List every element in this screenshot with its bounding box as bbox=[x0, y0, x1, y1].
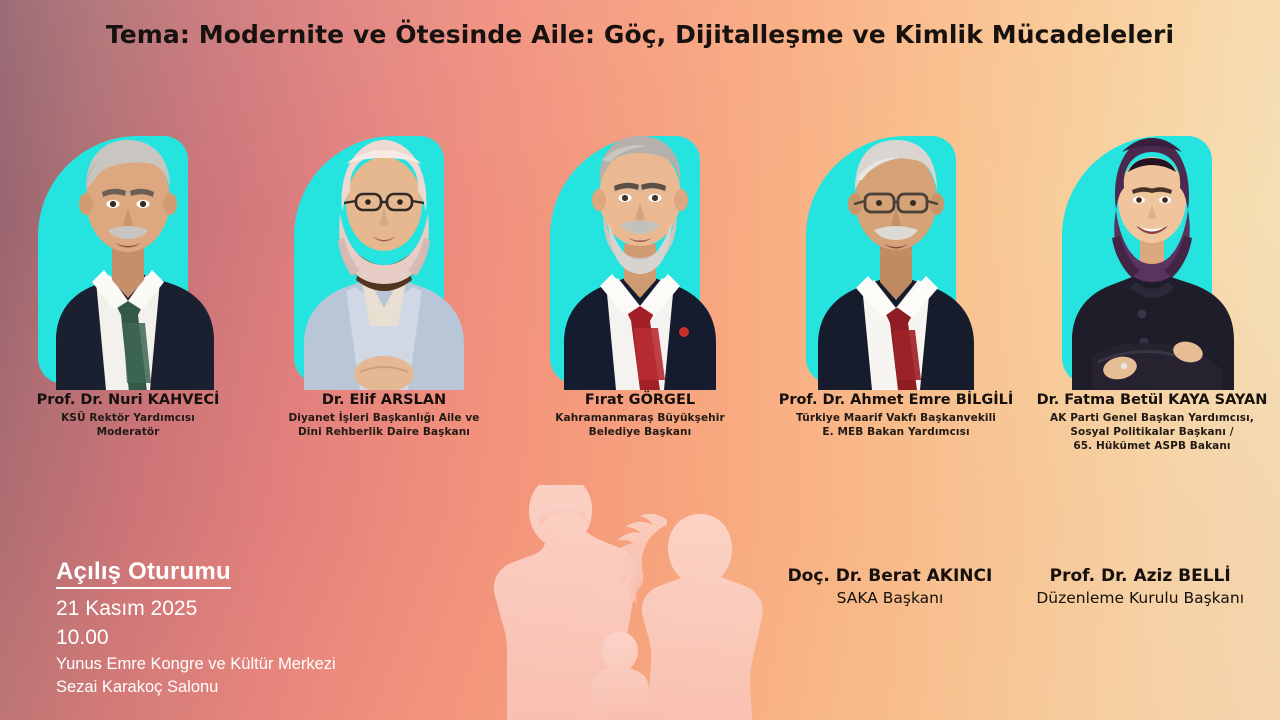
portrait-elif-arslan bbox=[256, 118, 512, 390]
photo-wrap bbox=[512, 118, 768, 390]
organizer-item: Doç. Dr. Berat AKINCI SAKA Başkanı bbox=[788, 566, 993, 608]
family-silhouette-icon bbox=[395, 485, 825, 720]
speaker-card: Dr. Fatma Betül KAYA SAYAN AK Parti Gene… bbox=[1024, 118, 1280, 478]
speaker-name: Dr. Fatma Betül KAYA SAYAN bbox=[1037, 392, 1268, 408]
speaker-name: Dr. Elif ARSLAN bbox=[322, 392, 446, 408]
poster-canvas: Tema: Modernite ve Ötesinde Aile: Göç, D… bbox=[0, 0, 1280, 720]
organizer-role: SAKA Başkanı bbox=[788, 589, 993, 608]
speaker-role: KSÜ Rektör Yardımcısı Moderatör bbox=[61, 412, 195, 440]
page-title: Tema: Modernite ve Ötesinde Aile: Göç, D… bbox=[0, 20, 1280, 49]
organizer-name: Doç. Dr. Berat AKINCI bbox=[788, 566, 993, 586]
portrait-fatma-betul-kaya-sayan bbox=[1024, 118, 1280, 390]
organizers-block: Doç. Dr. Berat AKINCI SAKA Başkanı Prof.… bbox=[788, 566, 1244, 608]
speaker-card: Prof. Dr. Nuri KAHVECİ KSÜ Rektör Yardım… bbox=[0, 118, 256, 478]
photo-wrap bbox=[1024, 118, 1280, 390]
session-time: 10.00 bbox=[56, 625, 336, 650]
speaker-card: Prof. Dr. Ahmet Emre BİLGİLİ Türkiye Maa… bbox=[768, 118, 1024, 478]
speaker-name: Prof. Dr. Nuri KAHVECİ bbox=[37, 392, 220, 408]
photo-wrap bbox=[0, 118, 256, 390]
speaker-card: Dr. Elif ARSLAN Diyanet İşleri Başkanlığ… bbox=[256, 118, 512, 478]
speaker-name: Prof. Dr. Ahmet Emre BİLGİLİ bbox=[779, 392, 1014, 408]
speaker-name: Fırat GÖRGEL bbox=[585, 392, 695, 408]
speaker-role: Diyanet İşleri Başkanlığı Aile ve Dini R… bbox=[288, 412, 479, 440]
photo-wrap bbox=[256, 118, 512, 390]
session-date: 21 Kasım 2025 bbox=[56, 596, 336, 621]
organizer-role: Düzenleme Kurulu Başkanı bbox=[1036, 589, 1244, 608]
speaker-row: Prof. Dr. Nuri KAHVECİ KSÜ Rektör Yardım… bbox=[0, 118, 1280, 478]
session-info-block: Açılış Oturumu 21 Kasım 2025 10.00 Yunus… bbox=[56, 558, 336, 699]
portrait-nuri-kahveci bbox=[0, 118, 256, 390]
session-heading: Açılış Oturumu bbox=[56, 558, 231, 589]
photo-wrap bbox=[768, 118, 1024, 390]
session-venue: Yunus Emre Kongre ve Kültür Merkezi Seza… bbox=[56, 653, 336, 699]
portrait-firat-gorgel bbox=[512, 118, 768, 390]
organizer-item: Prof. Dr. Aziz BELLİ Düzenleme Kurulu Ba… bbox=[1036, 566, 1244, 608]
speaker-role: AK Parti Genel Başkan Yardımcısı, Sosyal… bbox=[1050, 412, 1254, 454]
speaker-role: Kahramanmaraş Büyükşehir Belediye Başkan… bbox=[555, 412, 724, 440]
portrait-ahmet-emre-bilgili bbox=[768, 118, 1024, 390]
speaker-card: Fırat GÖRGEL Kahramanmaraş Büyükşehir Be… bbox=[512, 118, 768, 478]
organizer-name: Prof. Dr. Aziz BELLİ bbox=[1036, 566, 1244, 586]
speaker-role: Türkiye Maarif Vakfı Başkanvekili E. MEB… bbox=[796, 412, 996, 440]
